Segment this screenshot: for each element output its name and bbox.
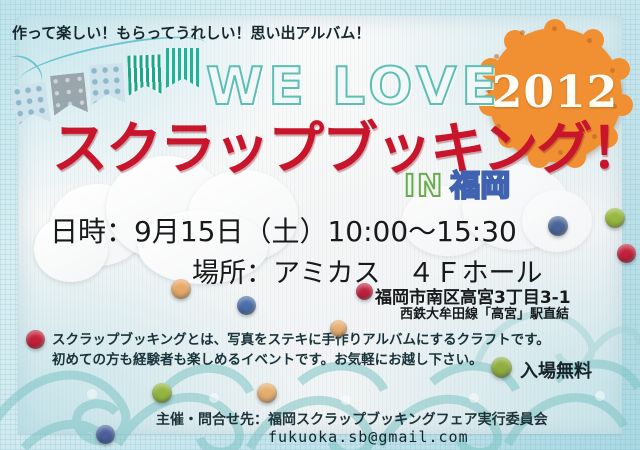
brad-blue-mid <box>237 296 256 315</box>
brad-orange-desc <box>330 320 347 337</box>
brad-red-right <box>617 244 636 263</box>
description-block: スクラップブッキングとは、写真をステキに手作りアルバムにするクラフトです。 初め… <box>52 330 550 370</box>
description-line-1: スクラップブッキングとは、写真をステキに手作りアルバムにするクラフトです。 <box>52 330 550 350</box>
title-japanese: スクラップブッキング！ <box>52 104 640 185</box>
event-date-line: 日時：9月15日（土）10:00〜15:30 <box>50 210 517 250</box>
organizer-line: 主催・問合せ先：福岡スクラップブッキングフェア実行委員会 <box>156 409 548 429</box>
bunting-flag-dots-3 <box>89 63 126 105</box>
poster-canvas: 2012 作って楽しい！もらってうれしい！思い出アルバム！ WE LOVE スク… <box>0 0 640 450</box>
brad-blue-bottom <box>96 425 115 444</box>
tagline: 作って楽しい！もらってうれしい！思い出アルバム！ <box>12 22 370 43</box>
brad-green-right <box>605 208 625 228</box>
contact-email: fukuoka.sb@gmail.com <box>268 428 469 446</box>
brad-orange-mid <box>171 279 191 299</box>
brad-orange-bottom <box>257 383 277 403</box>
brad-red-desc-left <box>26 330 45 349</box>
bunting-flag-dots-1 <box>11 82 50 126</box>
bunting-flag-stripe-5 <box>166 48 200 88</box>
in-city-row: IN福岡 <box>404 161 510 205</box>
city-label: 福岡 <box>450 169 510 204</box>
event-access-note: 西鉄大牟田線「高宮」駅直結 <box>400 303 569 322</box>
description-line-2: 初めての方も経験者も楽しめるイベントです。お気軽にお越し下さい。 <box>52 350 550 370</box>
admission-free-label: 入場無料 <box>520 357 592 383</box>
bunting-flag-stripe-4 <box>127 54 162 95</box>
brad-red-address <box>356 283 373 300</box>
brad-green-bottom-left <box>152 383 172 403</box>
in-label: IN <box>404 169 444 204</box>
brad-green-free <box>491 357 512 378</box>
brad-blue-top-right <box>548 216 568 236</box>
